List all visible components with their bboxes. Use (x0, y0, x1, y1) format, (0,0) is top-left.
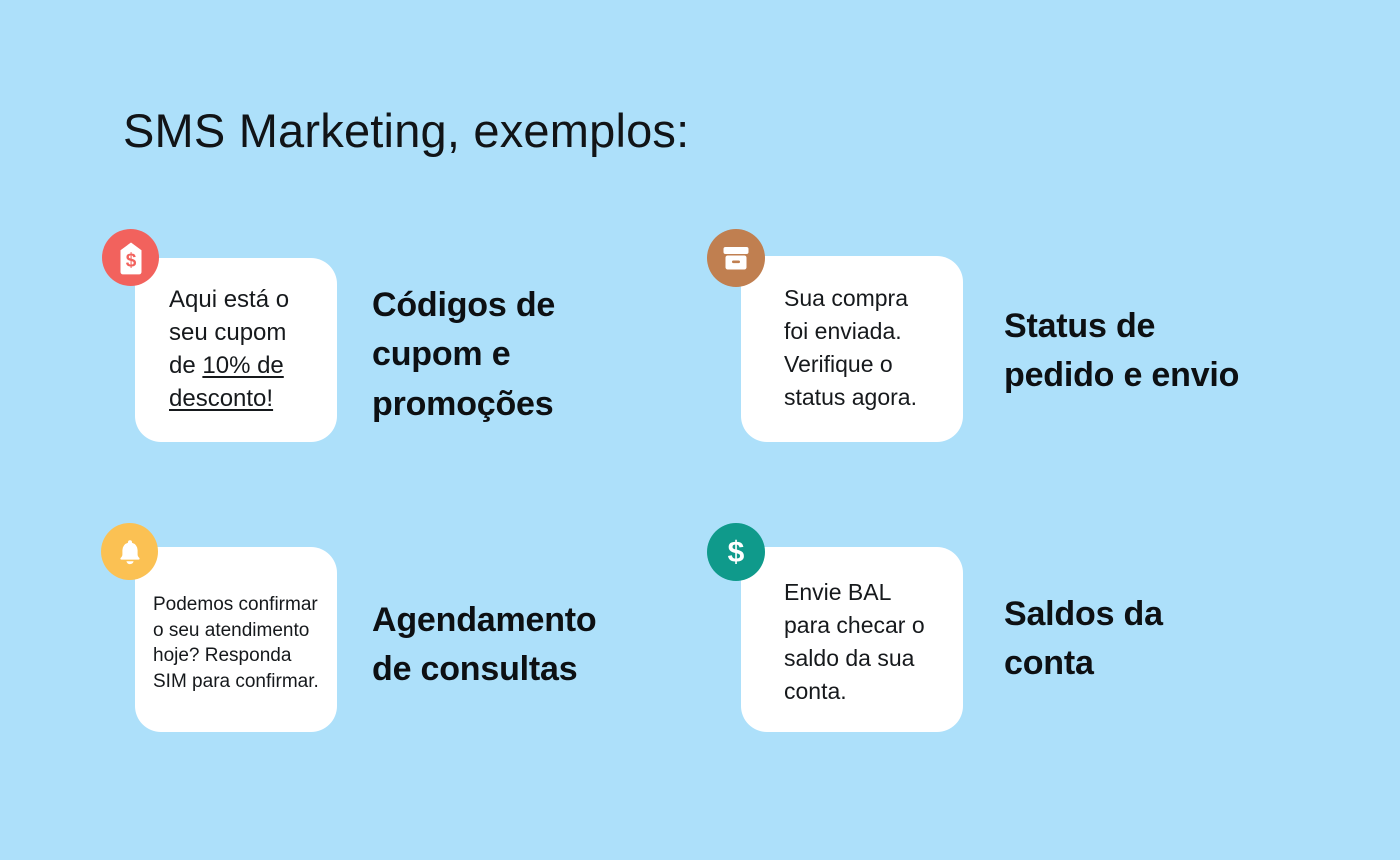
message-line-3-underlined: 10% de (202, 352, 283, 379)
heading-appointments: Agendamento de consultas (372, 596, 692, 695)
message-text-coupon: Aqui está oseu cupomde 10% dedesconto! (169, 283, 339, 415)
dollar-sign-icon: $ (707, 523, 765, 581)
svg-text:$: $ (728, 536, 745, 569)
message-text-order-status: Sua compra foi enviada. Verifique o stat… (784, 282, 969, 414)
message-line-3-prefix: de (169, 352, 202, 379)
message-line-4-underlined: desconto! (169, 385, 273, 412)
message-text-appointments: Podemos confirmar o seu atendimento hoje… (153, 592, 353, 694)
page-title: SMS Marketing, exemplos: (123, 103, 689, 158)
infographic-root: SMS Marketing, exemplos: Aqui está oseu … (0, 0, 1400, 860)
message-line-1: Aqui está o (169, 286, 289, 313)
package-box-icon (707, 229, 765, 287)
price-tag-dollar-icon: $ (102, 229, 159, 286)
heading-order-status: Status de pedido e envio (1004, 302, 1314, 401)
message-line-2: seu cupom (169, 319, 286, 346)
heading-account-balance: Saldos da conta (1004, 590, 1304, 689)
bell-icon (101, 523, 158, 580)
heading-coupon: Códigos de cupom e promoções (372, 281, 632, 429)
message-text-account-balance: Envie BAL para checar o saldo da sua con… (784, 576, 969, 708)
svg-text:$: $ (125, 250, 136, 271)
